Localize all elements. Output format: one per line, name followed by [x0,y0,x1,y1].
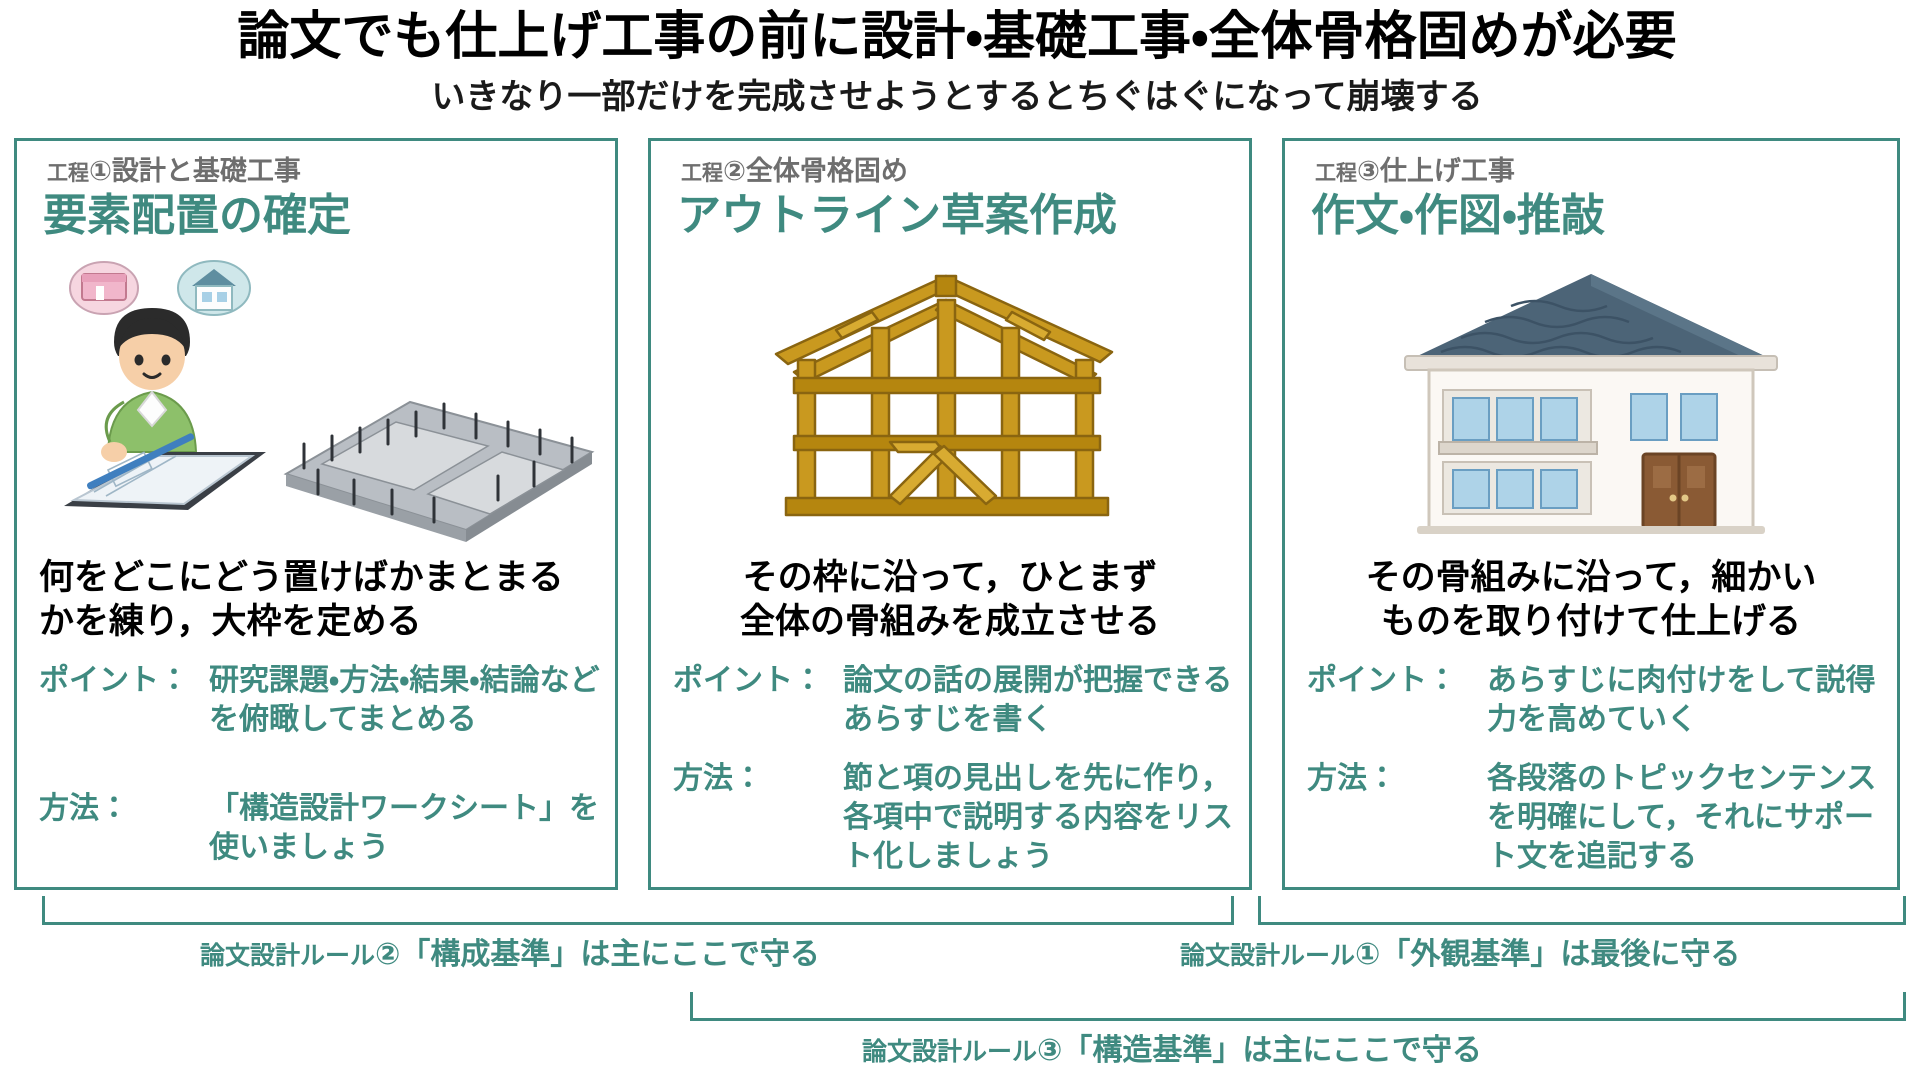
process-panel-1[interactable]: 工程①設計と基礎工事 要素配置の確定 [14,138,618,890]
bracket-label-number-1: ① [1355,938,1380,971]
panel-description-1: 何をどこにどう置けばかまとまる かを練り，大枠を定める [39,556,605,644]
bracket-label-body-3: 「構造基準」は主にここで守る [1062,1034,1481,1067]
method-key-3: 方法： [1307,759,1487,798]
bracket-label-number-3: ③ [1037,1034,1062,1067]
stage-number-2: ② [723,156,746,186]
panel-method-2: 方法： 節と項の見出しを先に作り，各項中で説明する内容をリスト化しましょう [673,759,1235,876]
wooden-house-frame-skeleton-icon [740,256,1160,546]
point-key-2: ポイント： [673,661,843,700]
method-value-2: 節と項の見出しを先に作り，各項中で説明する内容をリスト化しましょう [843,759,1235,876]
stage-number-3: ③ [1357,156,1380,186]
bracket-tick-left-2 [42,896,45,925]
bracket-label-body-1: 「外観基準」は最後に守る [1380,938,1740,971]
bracket-tick-right-3 [1903,992,1906,1021]
stage-name-3: 仕上げ工事 [1380,156,1515,186]
stage-prefix-3: 工程 [1315,162,1357,185]
bracket-line-3 [690,1018,1906,1021]
bracket-label-prefix-1: 論文設計ルール [1180,942,1355,970]
bracket-label-number-2: ② [375,938,400,971]
bracket-label-rule-2: 論文設計ルール②「構成基準」は主にここで守る [200,938,820,971]
panel-title-3: 作文・作図・推敲 [1311,191,1605,240]
bracket-label-prefix-2: 論文設計ルール [200,942,375,970]
page-subtitle: いきなり一部だけを完成させようとするとちぐはぐになって崩壊する [0,78,1914,117]
process-panel-2[interactable]: 工程②全体骨格固め アウトライン草案作成 [648,138,1252,890]
point-key-1: ポイント： [39,661,209,700]
illustration-2 [651,251,1249,551]
stage-label-1: 工程①設計と基礎工事 [47,157,301,187]
panel-description-3: その骨組みに沿って，細かい ものを取り付けて仕上げる [1303,556,1879,644]
point-value-3: あらすじに肉付けをして説得力を高めていく [1487,661,1883,739]
stage-label-2: 工程②全体骨格固め [681,157,908,187]
bracket-label-prefix-3: 論文設計ルール [862,1038,1037,1066]
panel-method-3: 方法： 各段落のトピックセンテンスを明確にして，それにサポート文を追記する [1307,759,1883,876]
bracket-tick-right-2 [1231,896,1234,925]
bracket-tick-left-1 [1258,896,1261,925]
panel-description-2: その枠に沿って，ひとまず 全体の骨組みを成立させる [669,556,1231,644]
point-key-3: ポイント： [1307,661,1487,700]
bracket-label-body-2: 「構成基準」は主にここで守る [400,938,819,971]
panel-point-2: ポイント： 論文の話の展開が把握できるあらすじを書く [673,661,1235,739]
stage-name-1: 設計と基礎工事 [112,156,301,186]
point-value-2: 論文の話の展開が把握できるあらすじを書く [843,661,1235,739]
bracket-tick-left-3 [690,992,693,1021]
method-value-3: 各段落のトピックセンテンスを明確にして，それにサポート文を追記する [1487,759,1883,876]
panel-title-1: 要素配置の確定 [43,191,351,240]
stage-prefix-2: 工程 [681,162,723,185]
slide-root: 論文でも仕上げ工事の前に設計・基礎工事・全体骨格固めが必要 いきなり一部だけを完… [0,0,1914,1090]
bracket-line-1 [1258,922,1906,925]
stage-prefix-1: 工程 [47,162,89,185]
panel-point-3: ポイント： あらすじに肉付けをして説得力を高めていく [1307,661,1883,739]
page-title: 論文でも仕上げ工事の前に設計・基礎工事・全体骨格固めが必要 [0,8,1914,66]
method-value-1: 「構造設計ワークシート」を使いましょう [209,789,601,867]
stage-number-1: ① [89,156,112,186]
panel-title-2: アウトライン草案作成 [677,191,1117,240]
method-key-1: 方法： [39,789,209,828]
bracket-tick-right-1 [1903,896,1906,925]
point-value-1: 研究課題・方法・結果・結論などを俯瞰してまとめる [209,661,601,739]
method-key-2: 方法： [673,759,843,798]
stage-name-2: 全体骨格固め [746,156,908,186]
bracket-label-rule-3: 論文設計ルール③「構造基準」は主にここで守る [862,1034,1482,1067]
process-panel-3[interactable]: 工程③仕上げ工事 作文・作図・推敲 [1282,138,1900,890]
illustration-3 [1285,251,1897,551]
finished-two-story-house-icon [1381,256,1801,546]
architect-drafting-blueprint-and-foundation-icon [36,256,596,546]
panel-point-1: ポイント： 研究課題・方法・結果・結論などを俯瞰してまとめる [39,661,601,739]
panel-method-1: 方法： 「構造設計ワークシート」を使いましょう [39,789,601,867]
bracket-label-rule-1: 論文設計ルール①「外観基準」は最後に守る [1180,938,1740,971]
stage-label-3: 工程③仕上げ工事 [1315,157,1515,187]
illustration-1 [17,251,615,551]
bracket-line-2 [42,922,1234,925]
